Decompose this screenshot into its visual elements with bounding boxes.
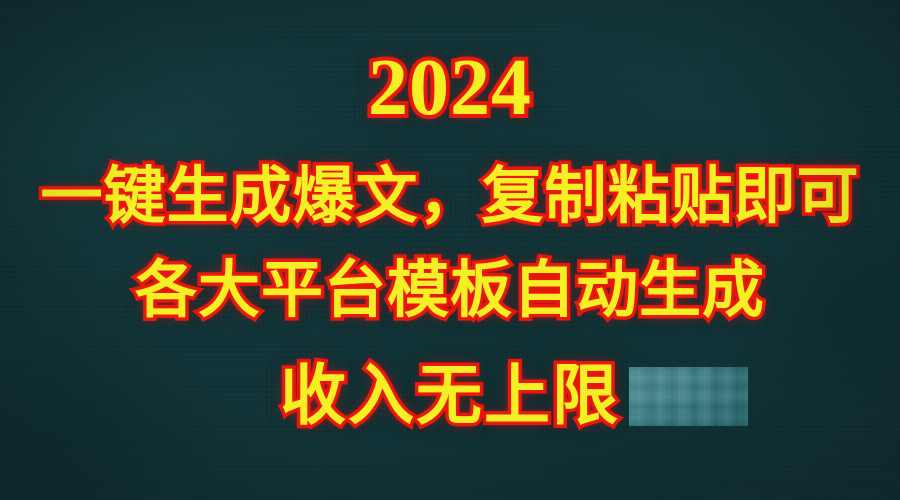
promo-poster: 2024 一键生成爆文，复制粘贴即可 各大平台模板自动生成 收入无上限 xyxy=(0,0,900,500)
mosaic-censor-patch xyxy=(629,367,748,426)
headline-year: 2024 xyxy=(0,48,900,128)
mosaic-grid-overlay xyxy=(629,367,748,426)
headline-line-three: 各大平台模板自动生成 xyxy=(0,260,900,322)
headline-line-two: 一键生成爆文，复制粘贴即可 xyxy=(0,166,900,228)
headline-line-four: 收入无上限 xyxy=(0,362,900,428)
